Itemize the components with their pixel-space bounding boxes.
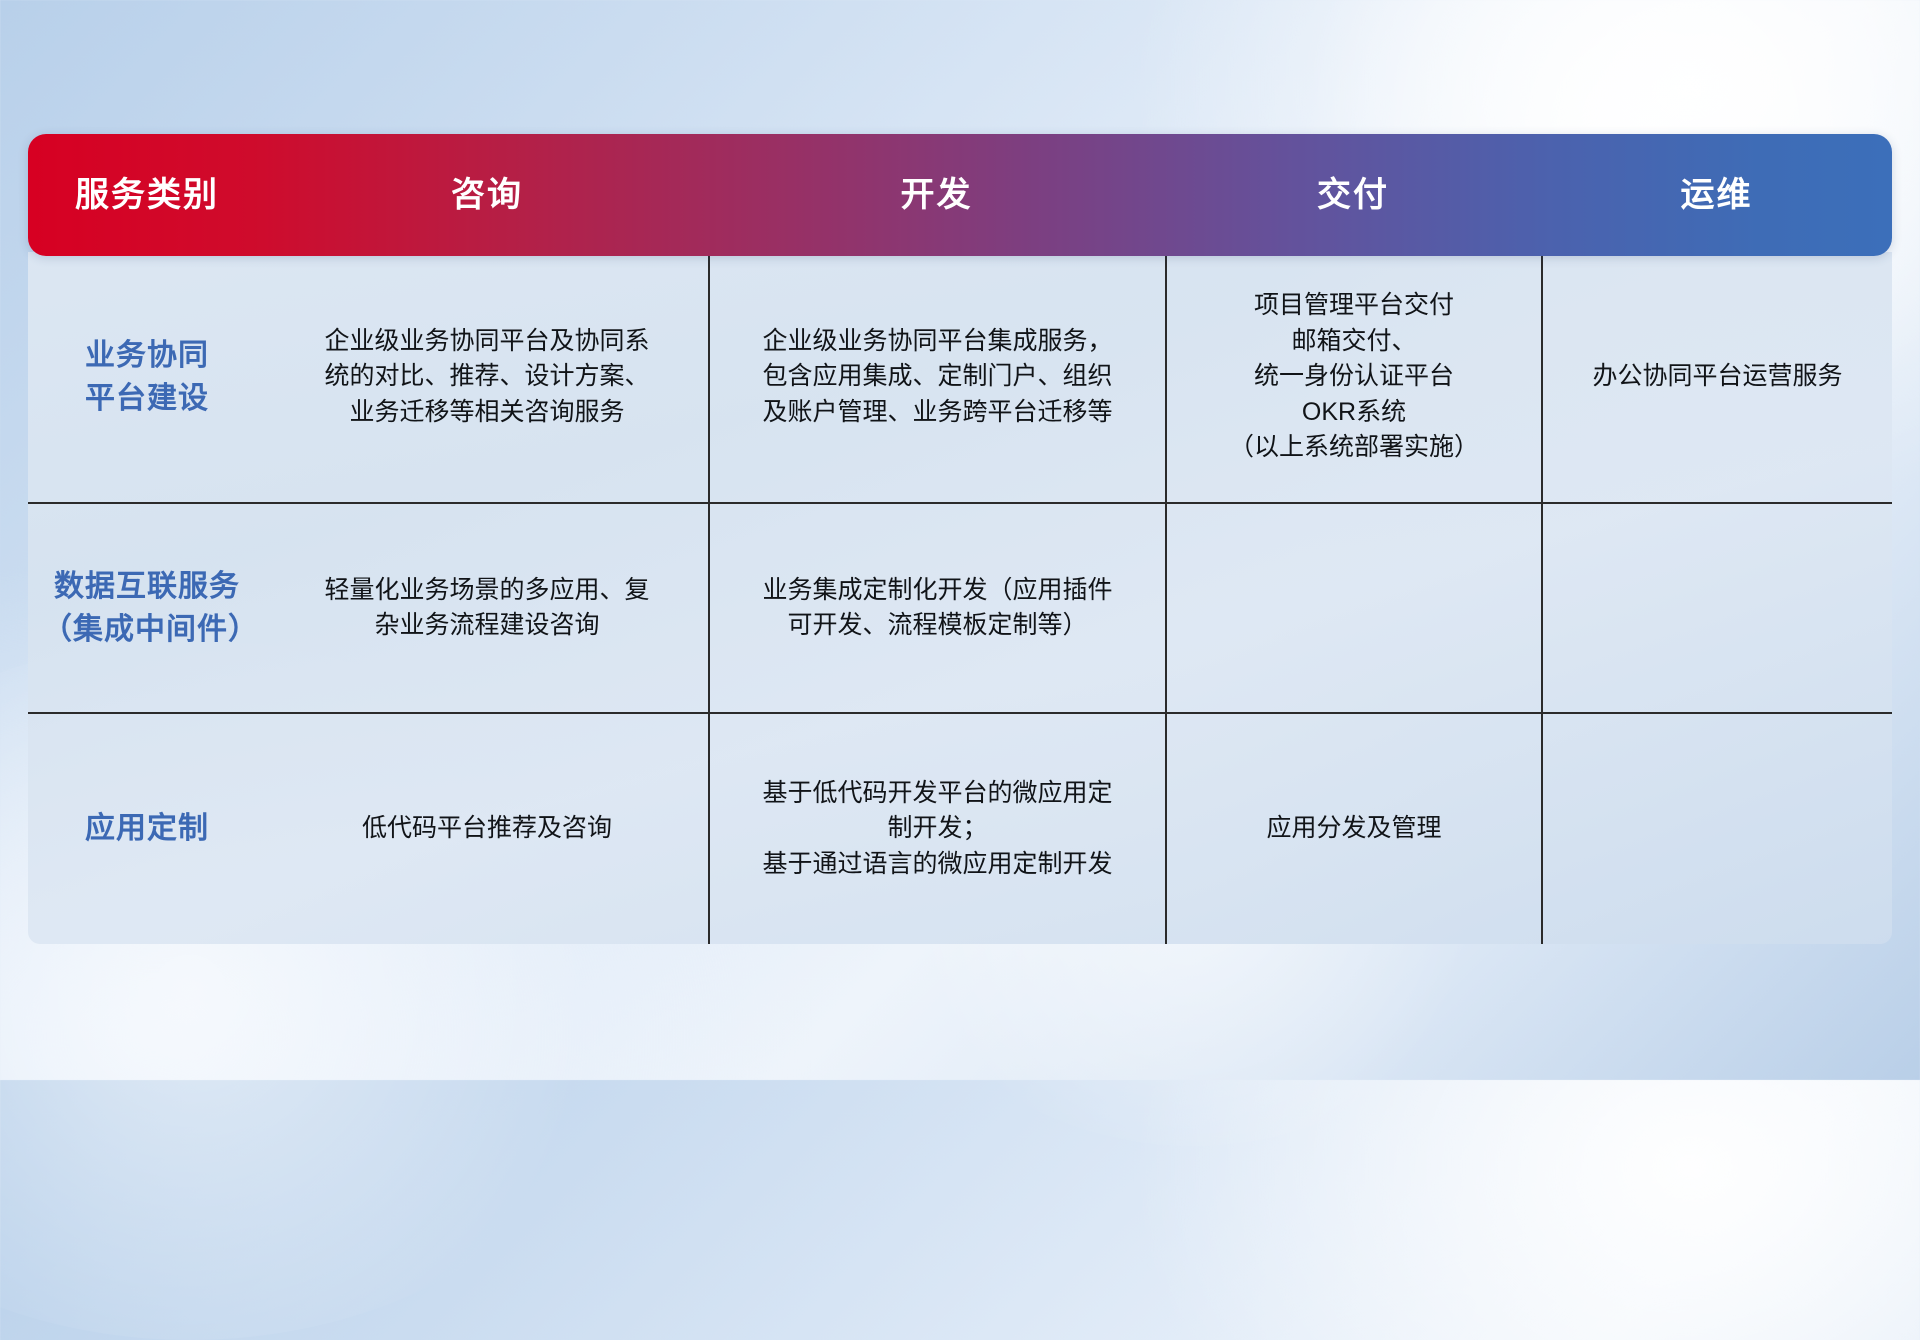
row-category-label: 业务协同 平台建设 <box>28 252 266 502</box>
table-row: 数据互联服务 （集成中间件） 轻量化业务场景的多应用、复 杂业务流程建设咨询 业… <box>28 502 1892 712</box>
cell-operations <box>1541 504 1892 712</box>
table-header-row: 服务类别 咨询 开发 交付 运维 <box>28 134 1892 256</box>
row-category-label: 应用定制 <box>28 714 266 944</box>
table-row: 应用定制 低代码平台推荐及咨询 基于低代码开发平台的微应用定 制开发； 基于通过… <box>28 712 1892 944</box>
row-category-label: 数据互联服务 （集成中间件） <box>28 504 266 712</box>
cell-development: 基于低代码开发平台的微应用定 制开发； 基于通过语言的微应用定制开发 <box>708 714 1165 944</box>
service-matrix-table: 服务类别 咨询 开发 交付 运维 业务协同 平台建设 企业级业务协同平台及协同系… <box>28 134 1892 948</box>
cell-operations: 办公协同平台运营服务 <box>1541 252 1892 502</box>
cell-consulting: 企业级业务协同平台及协同系 统的对比、推荐、设计方案、 业务迁移等相关咨询服务 <box>266 252 708 502</box>
cell-operations <box>1541 714 1892 944</box>
table-header-operations: 运维 <box>1541 175 1892 216</box>
service-matrix-table-wrapper: 服务类别 咨询 开发 交付 运维 业务协同 平台建设 企业级业务协同平台及协同系… <box>28 134 1892 948</box>
table-header-service-category: 服务类别 <box>28 175 266 216</box>
cell-consulting: 低代码平台推荐及咨询 <box>266 714 708 944</box>
table-header-consulting: 咨询 <box>266 175 708 216</box>
table-header-development: 开发 <box>708 175 1165 216</box>
table-body: 业务协同 平台建设 企业级业务协同平台及协同系 统的对比、推荐、设计方案、 业务… <box>28 252 1892 944</box>
cell-delivery <box>1165 504 1541 712</box>
cell-delivery: 应用分发及管理 <box>1165 714 1541 944</box>
cell-delivery: 项目管理平台交付 邮箱交付、 统一身份认证平台 OKR系统 （以上系统部署实施） <box>1165 252 1541 502</box>
cell-consulting: 轻量化业务场景的多应用、复 杂业务流程建设咨询 <box>266 504 708 712</box>
table-row: 业务协同 平台建设 企业级业务协同平台及协同系 统的对比、推荐、设计方案、 业务… <box>28 252 1892 502</box>
cell-development: 企业级业务协同平台集成服务， 包含应用集成、定制门户、组织 及账户管理、业务跨平… <box>708 252 1165 502</box>
table-header-delivery: 交付 <box>1165 175 1541 216</box>
cell-development: 业务集成定制化开发（应用插件 可开发、流程模板定制等） <box>708 504 1165 712</box>
